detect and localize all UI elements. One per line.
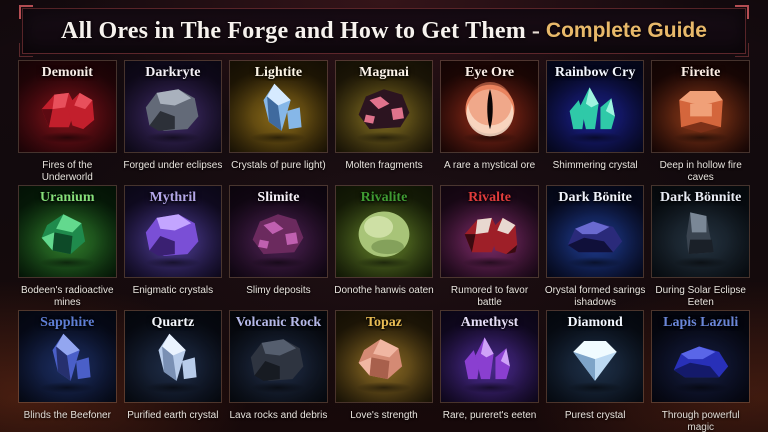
ore-thumbnail[interactable]: Sapphire xyxy=(18,310,117,403)
ore-thumbnail[interactable]: Lightite xyxy=(229,60,328,153)
ore-thumbnail[interactable]: Uranium xyxy=(18,185,117,278)
ore-description-label: Forged under eclipses xyxy=(122,160,225,172)
ore-thumbnail[interactable]: Dark Bönite xyxy=(546,185,645,278)
ore-card[interactable]: Dark BönniteDuring Solar Eclipse Eeten xyxy=(651,185,750,310)
ore-name-label: Slimite xyxy=(230,190,327,206)
ore-card[interactable]: Rainbow CryShimmering crystal xyxy=(546,60,645,185)
ore-card[interactable]: DarkryteForged under eclipses xyxy=(124,60,223,185)
page-background: All Ores in The Forge and How to Get The… xyxy=(0,0,768,432)
ore-thumbnail[interactable]: Fireite xyxy=(651,60,750,153)
ore-mineral-icon xyxy=(664,330,738,388)
ore-mineral-icon xyxy=(347,330,421,388)
ore-name-label: Volcanic Rock xyxy=(230,315,327,331)
ore-description-label: Purest crystal xyxy=(544,410,647,422)
ore-description-label: Molten fragments xyxy=(333,160,436,172)
ore-name-label: Lightite xyxy=(230,65,327,81)
ore-card[interactable]: QuartzPurified earth crystal xyxy=(124,310,223,432)
ore-mineral-icon xyxy=(241,330,315,388)
ore-description-label: Through powerful magic xyxy=(649,410,752,432)
ore-card[interactable]: Volcanic RockLava rocks and debris xyxy=(229,310,328,432)
ore-card[interactable]: Eye OreA rare a mystical ore xyxy=(440,60,539,185)
ore-name-label: Uranium xyxy=(19,190,116,206)
ore-name-label: Mythril xyxy=(125,190,222,206)
ore-name-label: Fireite xyxy=(652,65,749,81)
ore-name-label: Sapphire xyxy=(19,315,116,331)
ore-name-label: Rivalte xyxy=(441,190,538,206)
ore-name-label: Magmai xyxy=(336,65,433,81)
ore-name-label: Topaz xyxy=(336,315,433,331)
page-title-dash: - xyxy=(532,18,540,45)
ore-thumbnail[interactable]: Magmai xyxy=(335,60,434,153)
ore-description-label: Love's strength xyxy=(333,410,436,422)
ore-mineral-icon xyxy=(136,205,210,263)
ore-thumbnail[interactable]: Rivalite xyxy=(335,185,434,278)
ore-thumbnail[interactable]: Volcanic Rock xyxy=(229,310,328,403)
ore-card[interactable]: MythrilEnigmatic crystals xyxy=(124,185,223,310)
ore-thumbnail[interactable]: Darkryte xyxy=(124,60,223,153)
ore-description-label: Bodeen's radioactive mines xyxy=(16,285,119,309)
ore-thumbnail[interactable]: Rainbow Cry xyxy=(546,60,645,153)
ore-mineral-icon xyxy=(347,205,421,263)
ore-mineral-icon xyxy=(453,330,527,388)
ore-thumbnail[interactable]: Lapis Lazuli xyxy=(651,310,750,403)
ore-name-label: Rivalite xyxy=(336,190,433,206)
ore-description-label: Orystal formed sarings ishadows xyxy=(544,285,647,309)
ore-card[interactable]: LightiteCrystals of pure light) xyxy=(229,60,328,185)
ore-mineral-icon xyxy=(30,80,104,138)
ore-card[interactable]: Lapis LazuliThrough powerful magic xyxy=(651,310,750,432)
ore-thumbnail[interactable]: Demonit xyxy=(18,60,117,153)
ore-thumbnail[interactable]: Topaz xyxy=(335,310,434,403)
ore-mineral-icon xyxy=(558,80,632,138)
ore-card[interactable]: FireiteDeep in hollow fire caves xyxy=(651,60,750,185)
ore-description-label: Rumored to favor battle xyxy=(438,285,541,309)
ore-card[interactable]: UraniumBodeen's radioactive mines xyxy=(18,185,117,310)
ore-thumbnail[interactable]: Mythril xyxy=(124,185,223,278)
ore-mineral-icon xyxy=(453,205,527,263)
ore-name-label: Rainbow Cry xyxy=(547,65,644,81)
ore-thumbnail[interactable]: Slimite xyxy=(229,185,328,278)
ore-mineral-icon xyxy=(558,330,632,388)
page-title-accent: Complete Guide xyxy=(546,19,707,43)
ore-description-label: Donothe hanwis oaten xyxy=(333,285,436,297)
ore-card[interactable]: DiamondPurest crystal xyxy=(546,310,645,432)
ore-card[interactable]: DemonitFires of the Underworld xyxy=(18,60,117,185)
ore-name-label: Quartz xyxy=(125,315,222,331)
ore-description-label: During Solar Eclipse Eeten xyxy=(649,285,752,309)
ore-thumbnail[interactable]: Rivalte xyxy=(440,185,539,278)
ore-description-label: Deep in hollow fire caves xyxy=(649,160,752,184)
ore-card[interactable]: RivalteRumored to favor battle xyxy=(440,185,539,310)
ore-name-label: Diamond xyxy=(547,315,644,331)
ore-card[interactable]: AmethystRare, pureret's eeten xyxy=(440,310,539,432)
ore-card[interactable]: TopazLove's strength xyxy=(335,310,434,432)
ore-mineral-icon xyxy=(30,330,104,388)
ore-card[interactable]: Dark BöniteOrystal formed sarings ishado… xyxy=(546,185,645,310)
ore-name-label: Darkryte xyxy=(125,65,222,81)
ore-description-label: Fires of the Underworld xyxy=(16,160,119,184)
ore-thumbnail[interactable]: Diamond xyxy=(546,310,645,403)
ore-description-label: Purified earth crystal xyxy=(122,410,225,422)
header-banner: All Ores in The Forge and How to Get The… xyxy=(22,8,746,54)
ore-mineral-icon xyxy=(664,205,738,263)
ore-mineral-icon xyxy=(30,205,104,263)
ore-description-label: Slimy deposits xyxy=(227,285,330,297)
ore-mineral-icon xyxy=(136,330,210,388)
ore-thumbnail[interactable]: Amethyst xyxy=(440,310,539,403)
page-title-main: All Ores in The Forge and How to Get The… xyxy=(61,18,526,45)
ore-thumbnail[interactable]: Dark Bönnite xyxy=(651,185,750,278)
ore-card[interactable]: MagmaiMolten fragments xyxy=(335,60,434,185)
ore-description-label: Rare, pureret's eeten xyxy=(438,410,541,422)
ore-name-label: Demonit xyxy=(19,65,116,81)
ore-mineral-icon xyxy=(664,80,738,138)
ore-thumbnail[interactable]: Quartz xyxy=(124,310,223,403)
ore-name-label: Lapis Lazuli xyxy=(652,315,749,331)
ore-name-label: Dark Bönite xyxy=(547,190,644,206)
ore-name-label: Amethyst xyxy=(441,315,538,331)
ore-description-label: Blinds the Beefoner xyxy=(16,410,119,422)
ore-description-label: A rare a mystical ore xyxy=(438,160,541,172)
ore-mineral-icon xyxy=(241,205,315,263)
ore-description-label: Shimmering crystal xyxy=(544,160,647,172)
ore-mineral-icon xyxy=(558,205,632,263)
page-title: All Ores in The Forge and How to Get The… xyxy=(22,8,746,54)
ore-card[interactable]: SlimiteSlimy deposits xyxy=(229,185,328,310)
ore-thumbnail[interactable]: Eye Ore xyxy=(440,60,539,153)
ore-grid: DemonitFires of the UnderworldDarkryteFo… xyxy=(18,60,750,432)
ore-description-label: Crystals of pure light) xyxy=(227,160,330,172)
ore-mineral-icon xyxy=(136,80,210,138)
ore-mineral-icon xyxy=(453,80,527,138)
ore-card[interactable]: RivaliteDonothe hanwis oaten xyxy=(335,185,434,310)
ore-card[interactable]: SapphireBlinds the Beefoner xyxy=(18,310,117,432)
ore-mineral-icon xyxy=(241,80,315,138)
ore-name-label: Eye Ore xyxy=(441,65,538,81)
ore-mineral-icon xyxy=(347,80,421,138)
ore-description-label: Enigmatic crystals xyxy=(122,285,225,297)
ore-description-label: Lava rocks and debris xyxy=(227,410,330,422)
ore-name-label: Dark Bönnite xyxy=(652,190,749,206)
